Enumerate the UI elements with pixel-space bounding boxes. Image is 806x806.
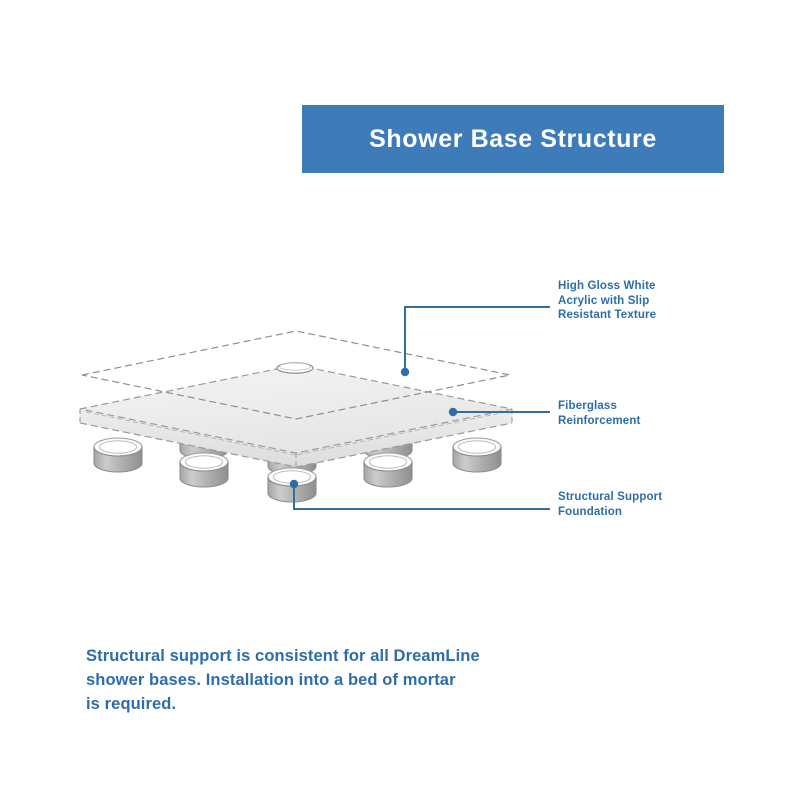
leader-line-support: [290, 480, 550, 509]
support-ring-2: [180, 453, 228, 487]
support-ring-1: [94, 438, 142, 472]
diagram-page: Shower Base Structure: [0, 0, 806, 806]
support-ring-6: [364, 453, 412, 487]
footer-caption: Structural support is consistent for all…: [86, 644, 506, 716]
drain-opening: [277, 363, 313, 373]
fiberglass-slab: [80, 365, 512, 467]
support-ring-8: [453, 438, 501, 472]
callout-label-fiberglass: Fiberglass Reinforcement: [558, 399, 640, 428]
leader-line-acrylic: [401, 307, 550, 376]
callout-label-support: Structural Support Foundation: [558, 490, 662, 519]
callout-label-acrylic: High Gloss White Acrylic with Slip Resis…: [558, 279, 656, 323]
